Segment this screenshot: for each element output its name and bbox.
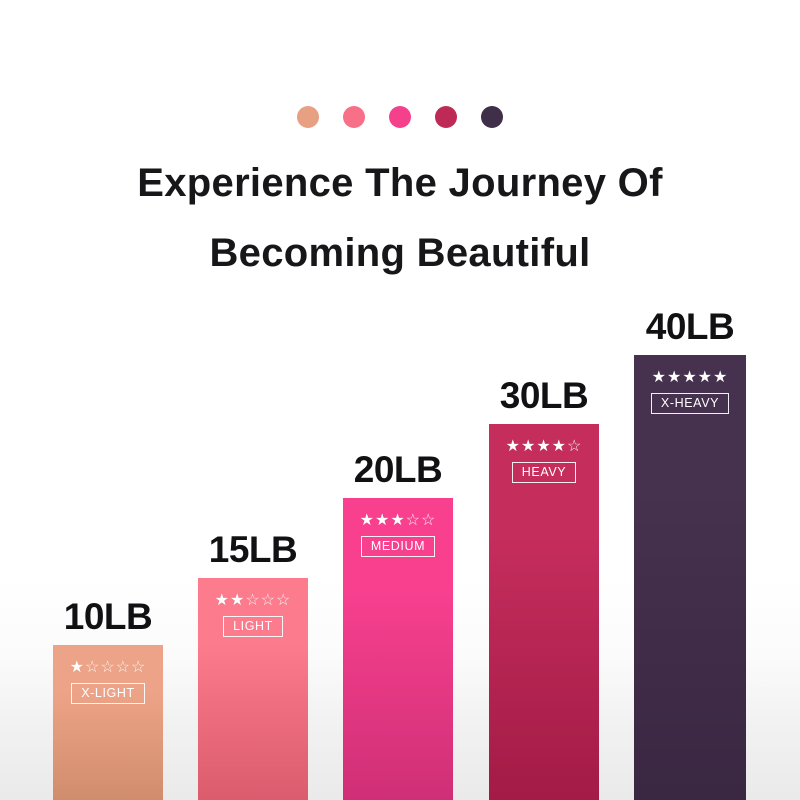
bar-body[interactable]: ★★★★★X-HEAVY xyxy=(634,355,746,800)
resistance-band-bar-chart: 10LB★☆☆☆☆X-LIGHT15LB★★☆☆☆LIGHT20LB★★★☆☆M… xyxy=(0,0,800,800)
star-filled-icon: ★ xyxy=(360,512,375,529)
star-empty-icon: ☆ xyxy=(245,592,260,609)
star-filled-icon: ★ xyxy=(215,592,230,609)
bar-badge: ★★☆☆☆LIGHT xyxy=(198,592,308,637)
resistance-level-label: LIGHT xyxy=(223,616,283,637)
bar-weight-label: 15LB xyxy=(198,531,308,568)
bar-badge: ★★★★☆HEAVY xyxy=(489,438,599,483)
star-filled-icon: ★ xyxy=(506,438,521,455)
bar-group-40lb[interactable]: 40LB★★★★★X-HEAVY xyxy=(634,355,746,800)
resistance-level-label: X-HEAVY xyxy=(651,393,729,414)
star-rating: ★☆☆☆☆ xyxy=(53,659,163,677)
bar-badge: ★★★☆☆MEDIUM xyxy=(343,512,453,557)
bar-weight-label: 10LB xyxy=(53,598,163,635)
bar-group-30lb[interactable]: 30LB★★★★☆HEAVY xyxy=(489,424,599,800)
star-empty-icon: ☆ xyxy=(131,659,146,676)
star-filled-icon: ★ xyxy=(682,369,697,386)
star-empty-icon: ☆ xyxy=(567,438,582,455)
bar-fill xyxy=(634,355,746,800)
star-filled-icon: ★ xyxy=(698,369,713,386)
star-rating: ★★★☆☆ xyxy=(343,512,453,530)
star-empty-icon: ☆ xyxy=(406,512,421,529)
star-empty-icon: ☆ xyxy=(421,512,436,529)
star-filled-icon: ★ xyxy=(536,438,551,455)
star-rating: ★★★★★ xyxy=(634,369,746,387)
star-rating: ★★★★☆ xyxy=(489,438,599,456)
bar-weight-label: 30LB xyxy=(489,377,599,414)
star-filled-icon: ★ xyxy=(713,369,728,386)
star-empty-icon: ☆ xyxy=(100,659,115,676)
resistance-level-label: X-LIGHT xyxy=(71,683,145,704)
star-filled-icon: ★ xyxy=(375,512,390,529)
star-empty-icon: ☆ xyxy=(261,592,276,609)
star-filled-icon: ★ xyxy=(521,438,536,455)
star-filled-icon: ★ xyxy=(552,438,567,455)
bar-badge: ★☆☆☆☆X-LIGHT xyxy=(53,659,163,704)
bar-body[interactable]: ★★☆☆☆LIGHT xyxy=(198,578,308,800)
star-filled-icon: ★ xyxy=(230,592,245,609)
bar-group-20lb[interactable]: 20LB★★★☆☆MEDIUM xyxy=(343,498,453,800)
bar-body[interactable]: ★★★★☆HEAVY xyxy=(489,424,599,800)
resistance-level-label: MEDIUM xyxy=(361,536,435,557)
bar-weight-label: 40LB xyxy=(634,308,746,345)
star-rating: ★★☆☆☆ xyxy=(198,592,308,610)
resistance-level-label: HEAVY xyxy=(512,462,576,483)
bar-body[interactable]: ★☆☆☆☆X-LIGHT xyxy=(53,645,163,800)
star-empty-icon: ☆ xyxy=(85,659,100,676)
star-empty-icon: ☆ xyxy=(276,592,291,609)
bar-group-15lb[interactable]: 15LB★★☆☆☆LIGHT xyxy=(198,578,308,800)
star-filled-icon: ★ xyxy=(70,659,85,676)
bar-badge: ★★★★★X-HEAVY xyxy=(634,369,746,414)
star-empty-icon: ☆ xyxy=(116,659,131,676)
star-filled-icon: ★ xyxy=(652,369,667,386)
star-filled-icon: ★ xyxy=(390,512,405,529)
bar-body[interactable]: ★★★☆☆MEDIUM xyxy=(343,498,453,800)
promo-banner: Experience The Journey Of Becoming Beaut… xyxy=(0,0,800,800)
bar-group-10lb[interactable]: 10LB★☆☆☆☆X-LIGHT xyxy=(53,645,163,800)
star-filled-icon: ★ xyxy=(667,369,682,386)
bar-weight-label: 20LB xyxy=(343,451,453,488)
